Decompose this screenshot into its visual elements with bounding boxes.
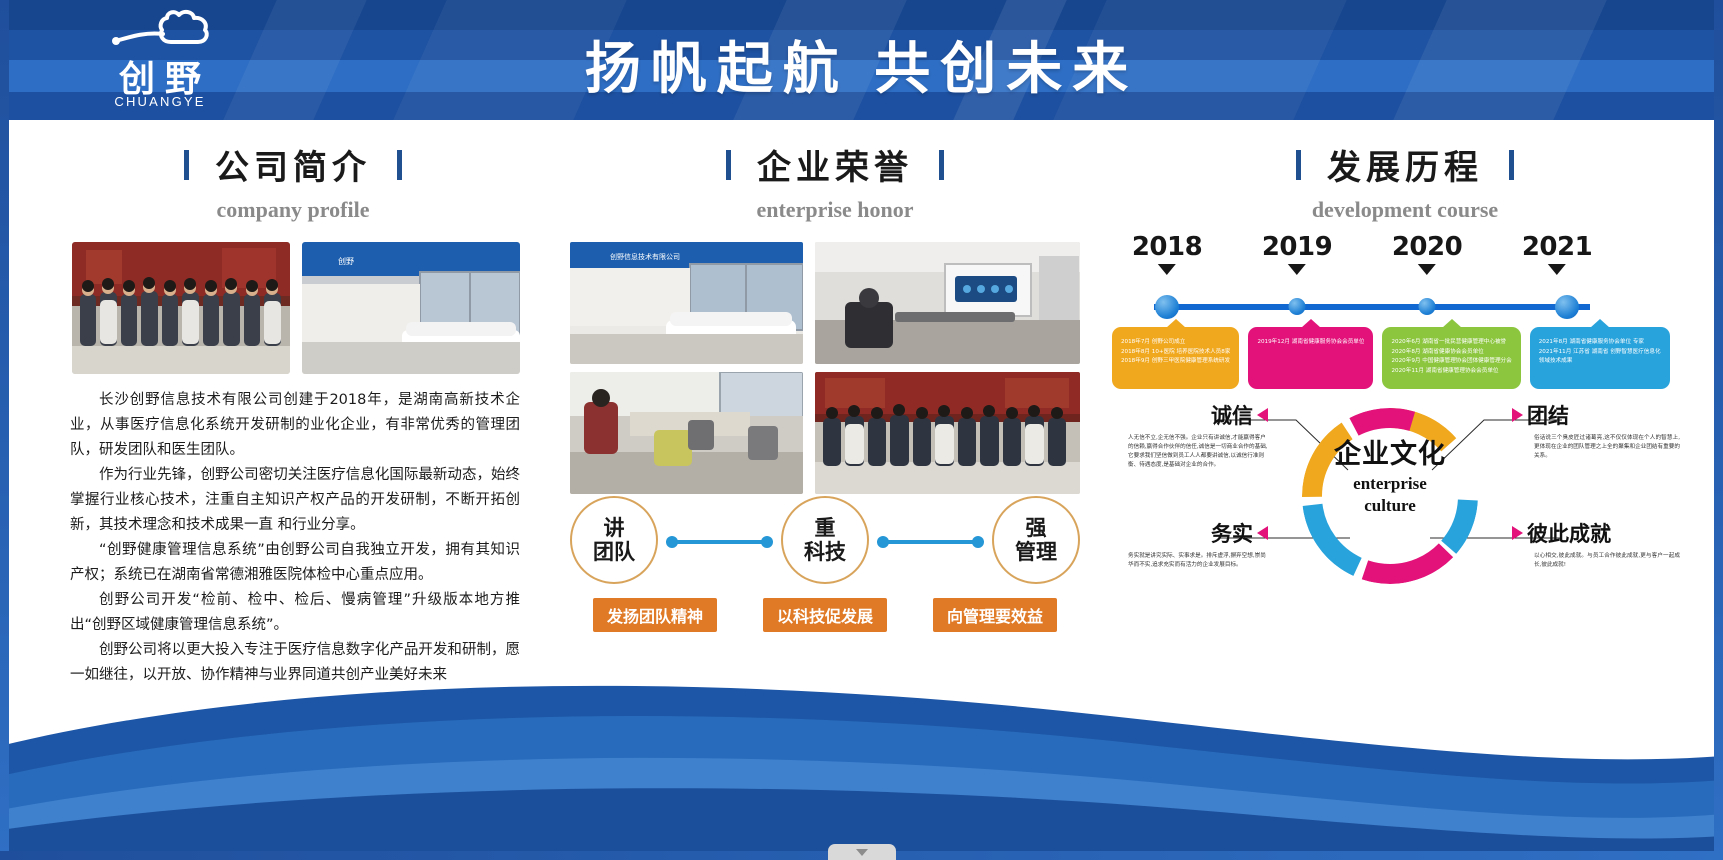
- connector-dot-right: [761, 536, 773, 548]
- svg-text:创野信息技术有限公司: 创野信息技术有限公司: [610, 252, 680, 261]
- poster-header: 创野 CHUANGYE 扬帆起航 共创未来: [0, 0, 1723, 120]
- flow-tag-slot-3: 向管理要效益: [910, 598, 1080, 632]
- quadrant-body: 务实就是讲究实际、实事求是。排斥虚浮,摒弃空想,崇尚华而不实,追求充实而有活力的…: [1100, 552, 1268, 570]
- office-reception-photo: 创野: [302, 242, 520, 374]
- culture-center-en-2: culture: [1100, 496, 1680, 515]
- profile-title-cn: 公司简介: [215, 140, 371, 189]
- flow-tag-2: 以科技促发展: [763, 598, 887, 632]
- card-line: 2020年6月 湖南省一批民营健康管理中心被誉: [1391, 338, 1511, 348]
- timeline-card-2021: 2021年8月 湖南省健康服务协会单位 专家 2021年11月 江苏省 湖南省 …: [1530, 327, 1670, 389]
- card-line: 2021年11月 江苏省 湖南省 创野智慧医疗信息化: [1539, 348, 1661, 358]
- timeline-card-2018: 2018年7月 创野公司成立 2018年8月 10+医院 培养医院技术人员8家 …: [1112, 327, 1239, 389]
- arrow-left-icon: [1257, 408, 1268, 422]
- frame-edge-right: [1714, 0, 1723, 860]
- arrow-right-icon: [1512, 526, 1523, 540]
- year-pointer-icon: [1288, 264, 1306, 275]
- heading-tick-right: [939, 150, 944, 180]
- development-title-en: development course: [1140, 197, 1670, 223]
- honor-title-en: enterprise honor: [570, 197, 1100, 223]
- flow-circle-1: 讲 团队: [570, 496, 658, 584]
- card-line: 2020年11月 湖南省健康管理协会会员单位: [1391, 367, 1511, 377]
- flow-circle-2: 重 科技: [781, 496, 869, 584]
- flow-circle-3-line1: 强: [1026, 516, 1047, 540]
- heading-tick-right: [1509, 150, 1514, 180]
- quadrant-body: 俗话说三个臭皮匠过诸葛亮,这不仅仅体现在个人的智慧上,更体现在企业的团队管理之上…: [1512, 434, 1680, 461]
- heading-tick-left: [726, 150, 731, 180]
- timeline-card-2019: 2019年12月 湖南省健康服务协会会员单位: [1248, 327, 1373, 389]
- arrow-left-icon: [1257, 526, 1268, 540]
- flow-connector-2: [869, 496, 992, 584]
- flow-connector-1: [658, 496, 781, 584]
- section-enterprise-honor: 企业荣誉 enterprise honor: [570, 120, 1100, 223]
- culture-diagram: 企业文化 enterprise culture 诚信 人无信不立,企无信不强。企…: [1100, 382, 1680, 632]
- honor-photo-grid: 创野信息技术有限公司: [570, 242, 1080, 494]
- card-line: 2019年12月 湖南省健康服务协会会员单位: [1257, 338, 1364, 348]
- flow-tag-slot-1: 发扬团队精神: [570, 598, 740, 632]
- flow-circle-2-line2: 科技: [804, 540, 846, 564]
- flow-circle-1-line2: 团队: [593, 540, 635, 564]
- frame-edge-left: [0, 0, 9, 860]
- poster-content: 公司简介 company profile: [0, 120, 1723, 680]
- flow-circle-1-line1: 讲: [604, 516, 625, 540]
- timeline-node-2019: [1289, 298, 1306, 315]
- timeline-year-2020: 2020: [1392, 232, 1462, 275]
- timeline-track: [1154, 304, 1590, 310]
- profile-paragraph: 长沙创野信息技术有限公司创建于2018年，是湖南高新技术企业，从事医疗信息化系统…: [70, 388, 520, 463]
- team-group-photo: [72, 242, 290, 374]
- flow-circle-3-line2: 管理: [1015, 540, 1057, 564]
- timeline-year-2018: 2018: [1132, 232, 1202, 275]
- connector-line: [672, 540, 767, 544]
- card-line: 领域技术成果: [1539, 357, 1661, 367]
- quadrant-body: 以心相交,彼此成就。与员工合作彼此成就,更与客户一起成长,彼此成就!: [1512, 552, 1680, 570]
- timeline-card-2020: 2020年6月 湖南省一批民营健康管理中心被誉 2020年8月 湖南省健康协会会…: [1382, 327, 1520, 389]
- open-office-photo: [570, 372, 803, 494]
- office-lounge-photo: 创野信息技术有限公司: [570, 242, 803, 364]
- section-development-course: 发展历程 development course 2018 2019: [1140, 120, 1670, 223]
- honor-title-cn: 企业荣誉: [757, 140, 913, 189]
- flow-tag-3: 向管理要效益: [933, 598, 1057, 632]
- timeline-year-row: 2018 2019 2020 2021: [1112, 232, 1652, 278]
- flow-tag-1: 发扬团队精神: [593, 598, 717, 632]
- heading-tick-left: [1296, 150, 1301, 180]
- year-pointer-icon: [1418, 264, 1436, 275]
- poster-main-title: 扬帆起航 共创未来: [0, 24, 1723, 105]
- year-label: 2020: [1392, 232, 1462, 262]
- culture-quadrant-unity: 团结 俗话说三个臭皮匠过诸葛亮,这不仅仅体现在个人的智慧上,更体现在企业的团队管…: [1512, 400, 1680, 461]
- flow-tag-slot-2: 以科技促发展: [740, 598, 910, 632]
- connector-dot-right: [972, 536, 984, 548]
- staff-group-photo: [815, 372, 1080, 494]
- card-line: 2018年7月 创野公司成立: [1121, 338, 1230, 348]
- section-company-profile: 公司简介 company profile: [58, 120, 528, 223]
- profile-paragraph: “创野健康管理信息系统”由创野公司自我独立开发，拥有其知识产权；系统已在湖南省常…: [70, 538, 520, 588]
- meeting-room-photo: [815, 242, 1080, 364]
- flow-circle-row: 讲 团队 重 科技: [570, 490, 1080, 590]
- card-line: 2018年8月 10+医院 培养医院技术人员8家: [1121, 348, 1230, 358]
- year-label: 2018: [1132, 232, 1202, 262]
- quadrant-body: 人无信不立,企无信不强。企业只有讲诚信,才能赢得客户的信赖,赢得合作伙伴的信任,…: [1100, 434, 1268, 470]
- card-line: 2021年8月 湖南省健康服务协会单位 专家: [1539, 338, 1661, 348]
- chevron-down-icon: [856, 849, 868, 856]
- profile-body-text: 长沙创野信息技术有限公司创建于2018年，是湖南高新技术企业，从事医疗信息化系统…: [70, 388, 520, 688]
- quadrant-label: 诚信: [1211, 400, 1253, 430]
- flow-tag-row: 发扬团队精神 以科技促发展 向管理要效益: [570, 598, 1080, 632]
- profile-heading: 公司简介 company profile: [58, 120, 528, 223]
- development-title-cn: 发展历程: [1327, 140, 1483, 189]
- scroll-down-handle[interactable]: [828, 844, 896, 860]
- profile-title-en: company profile: [58, 197, 528, 223]
- development-heading: 发展历程 development course: [1140, 120, 1670, 223]
- profile-paragraph: 创野公司开发“检前、检中、检后、慢病管理”升级版本地方推出“创野区域健康管理信息…: [70, 588, 520, 638]
- quadrant-label: 务实: [1211, 518, 1253, 548]
- poster-canvas: 创野 CHUANGYE 扬帆起航 共创未来 公司简介 company profi…: [0, 0, 1723, 860]
- timeline-node-2021: [1555, 295, 1579, 319]
- timeline-year-2021: 2021: [1522, 232, 1592, 275]
- card-line: 2020年9月 中国健康管理协会团体健康管理分会: [1391, 357, 1511, 367]
- honor-heading: 企业荣誉 enterprise honor: [570, 120, 1100, 223]
- culture-quadrant-pragmatism: 务实 务实就是讲究实际、实事求是。排斥虚浮,摒弃空想,崇尚华而不实,追求充实而有…: [1100, 518, 1268, 570]
- arrow-right-icon: [1512, 408, 1523, 422]
- flow-circle-3: 强 管理: [992, 496, 1080, 584]
- timeline-card-row: 2018年7月 创野公司成立 2018年8月 10+医院 培养医院技术人员8家 …: [1112, 327, 1652, 389]
- connector-line: [883, 540, 978, 544]
- culture-center-en-1: enterprise: [1100, 474, 1680, 493]
- year-pointer-icon: [1158, 264, 1176, 275]
- year-pointer-icon: [1548, 264, 1566, 275]
- flow-circle-2-line1: 重: [815, 516, 836, 540]
- timeline-node-2020: [1419, 298, 1436, 315]
- card-line: 2018年9月 创野三甲医院健康管理系统研发: [1121, 357, 1230, 367]
- profile-photo-row: 创野: [72, 242, 520, 374]
- culture-quadrant-mutual-achievement: 彼此成就 以心相交,彼此成就。与员工合作彼此成就,更与客户一起成长,彼此成就!: [1512, 518, 1680, 570]
- svg-text:创野: 创野: [338, 256, 354, 266]
- timeline-node-2018: [1155, 295, 1179, 319]
- year-label: 2019: [1262, 232, 1332, 262]
- poster-footer-wave: [0, 660, 1723, 860]
- heading-tick-left: [184, 150, 189, 180]
- quadrant-label: 彼此成就: [1527, 518, 1611, 548]
- culture-quadrant-integrity: 诚信 人无信不立,企无信不强。企业只有讲诚信,才能赢得客户的信赖,赢得合作伙伴的…: [1100, 400, 1268, 470]
- card-line: 2020年8月 湖南省健康协会会员单位: [1391, 348, 1511, 358]
- honor-flow-diagram: 讲 团队 重 科技: [570, 490, 1080, 635]
- quadrant-label: 团结: [1527, 400, 1569, 430]
- profile-paragraph: 作为行业先锋，创野公司密切关注医疗信息化国际最新动态，始终掌握行业核心技术，注重…: [70, 463, 520, 538]
- timeline-year-2019: 2019: [1262, 232, 1332, 275]
- heading-tick-right: [397, 150, 402, 180]
- development-timeline: 2018 2019 2020 2021: [1112, 232, 1652, 372]
- year-label: 2021: [1522, 232, 1592, 262]
